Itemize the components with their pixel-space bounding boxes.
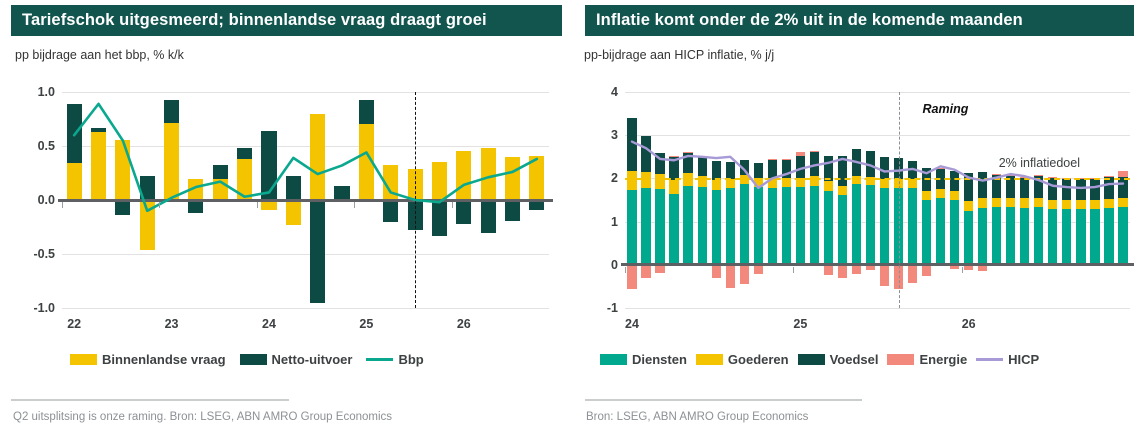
y-axis-tick-label: 0.5 — [38, 139, 55, 153]
x-axis-tick-label: 24 — [262, 317, 276, 331]
y-axis-tick-label: 2 — [611, 171, 618, 185]
x-axis-tick-label: 25 — [359, 317, 373, 331]
legend-swatch-icon — [887, 354, 914, 365]
x-axis-tick-label: 26 — [962, 317, 976, 331]
legend-swatch-icon — [600, 354, 627, 365]
y-axis-tick-label: 0 — [611, 258, 618, 272]
legend-swatch-icon — [798, 354, 825, 365]
line-path — [632, 142, 1123, 188]
x-axis-tick-label: 23 — [165, 317, 179, 331]
x-axis-tick-mark — [962, 267, 963, 273]
line-path — [74, 104, 537, 211]
x-axis-tick-mark — [452, 202, 453, 208]
line-series-hicp — [625, 92, 1130, 308]
footnote-inflation: Bron: LSEG, ABN AMRO Group Economics — [586, 411, 808, 423]
y-axis-tick-label: 1.0 — [38, 85, 55, 99]
legend-item[interactable]: HICP — [976, 352, 1039, 367]
legend-swatch-icon — [240, 354, 267, 365]
legend-gdp: Binnenlandse vraagNetto-uitvoerBbp — [70, 352, 424, 367]
x-axis-tick-mark — [625, 267, 626, 273]
y-axis-tick-label: -1 — [607, 301, 618, 315]
plot-area-inflation: 43210-12% inflatiedoelRaming242526 — [625, 92, 1130, 308]
legend-swatch-icon — [70, 354, 97, 365]
y-axis-tick-label: -0.5 — [33, 247, 55, 261]
legend-label: HICP — [1008, 352, 1039, 367]
legend-swatch-icon — [976, 358, 1003, 361]
y-axis-tick-label: 1 — [611, 215, 618, 229]
dual-chart-figure: Tariefschok uitgesmeerd; binnenlandse vr… — [0, 0, 1146, 432]
panel-title-gdp: Tariefschok uitgesmeerd; binnenlandse vr… — [11, 5, 562, 36]
legend-inflation: DienstenGoederenVoedselEnergieHICP — [600, 352, 1039, 367]
footer-rule-gdp — [11, 399, 289, 401]
legend-swatch-icon — [696, 354, 723, 365]
legend-label: Diensten — [632, 352, 687, 367]
y-axis-tick-label: 3 — [611, 128, 618, 142]
y-axis-tick-label: -1.0 — [33, 301, 55, 315]
legend-label: Binnenlandse vraag — [102, 352, 226, 367]
footnote-gdp: Q2 uitsplitsing is onze raming. Bron: LS… — [13, 411, 392, 423]
legend-label: Bbp — [398, 352, 423, 367]
legend-item[interactable]: Bbp — [366, 352, 423, 367]
x-axis-tick-mark — [257, 202, 258, 208]
x-axis-tick-label: 22 — [67, 317, 81, 331]
gridline — [625, 308, 1130, 309]
x-axis-tick-mark — [793, 267, 794, 273]
panel-title-inflation: Inflatie komt onder de 2% uit in de kome… — [585, 5, 1134, 36]
x-axis-tick-label: 26 — [457, 317, 471, 331]
x-axis-tick-label: 24 — [625, 317, 639, 331]
legend-swatch-icon — [366, 358, 393, 361]
y-axis-tick-label: 4 — [611, 85, 618, 99]
footer-rule-inflation — [585, 399, 862, 401]
x-axis-tick-mark — [62, 202, 63, 208]
legend-label: Netto-uitvoer — [272, 352, 353, 367]
gridline — [62, 308, 549, 309]
legend-item[interactable]: Voedsel — [798, 352, 879, 367]
plot-area-gdp: 1.00.50.0-0.5-1.02223242526 — [62, 92, 549, 308]
legend-label: Voedsel — [830, 352, 879, 367]
x-axis-tick-mark — [354, 202, 355, 208]
legend-label: Goederen — [728, 352, 789, 367]
x-axis-tick-label: 25 — [793, 317, 807, 331]
legend-item[interactable]: Goederen — [696, 352, 789, 367]
panel-inflation: Inflatie komt onder de 2% uit in de kome… — [573, 0, 1146, 432]
legend-label: Energie — [919, 352, 967, 367]
y-axis-tick-label: 0.0 — [38, 193, 55, 207]
legend-item[interactable]: Netto-uitvoer — [240, 352, 353, 367]
x-axis-tick-mark — [159, 202, 160, 208]
panel-subtitle-gdp: pp bijdrage aan het bbp, % k/k — [15, 48, 184, 62]
legend-item[interactable]: Energie — [887, 352, 967, 367]
legend-item[interactable]: Diensten — [600, 352, 687, 367]
line-series-bbp — [62, 92, 549, 308]
panel-subtitle-inflation: pp-bijdrage aan HICP inflatie, % j/j — [584, 48, 774, 62]
panel-gdp: Tariefschok uitgesmeerd; binnenlandse vr… — [0, 0, 573, 432]
legend-item[interactable]: Binnenlandse vraag — [70, 352, 226, 367]
